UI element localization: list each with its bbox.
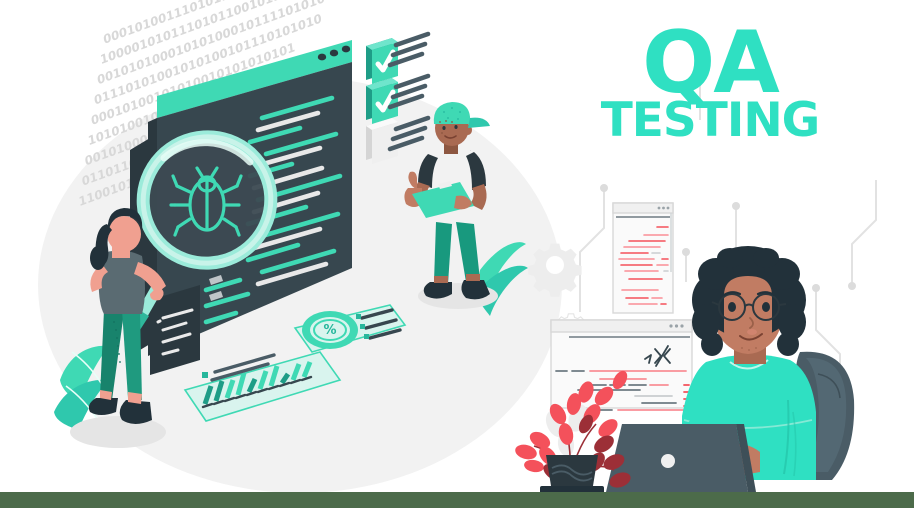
code-window-top bbox=[613, 203, 673, 313]
window-dots bbox=[669, 324, 683, 327]
headline-testing: TESTING bbox=[560, 99, 860, 142]
gear-icon-large bbox=[528, 244, 581, 297]
illustration-canvas: 00010100111010111010100010101 01 1000010… bbox=[0, 0, 914, 508]
headline-qa: QA bbox=[560, 24, 860, 103]
checklist-item bbox=[366, 38, 398, 84]
laptop-logo-dot bbox=[661, 454, 675, 468]
checklist-item bbox=[366, 78, 398, 124]
svg-text:%: % bbox=[323, 323, 336, 338]
bottom-green-bar bbox=[0, 492, 914, 508]
headline-block: QA TESTING bbox=[560, 24, 860, 142]
window-dots bbox=[658, 207, 670, 210]
